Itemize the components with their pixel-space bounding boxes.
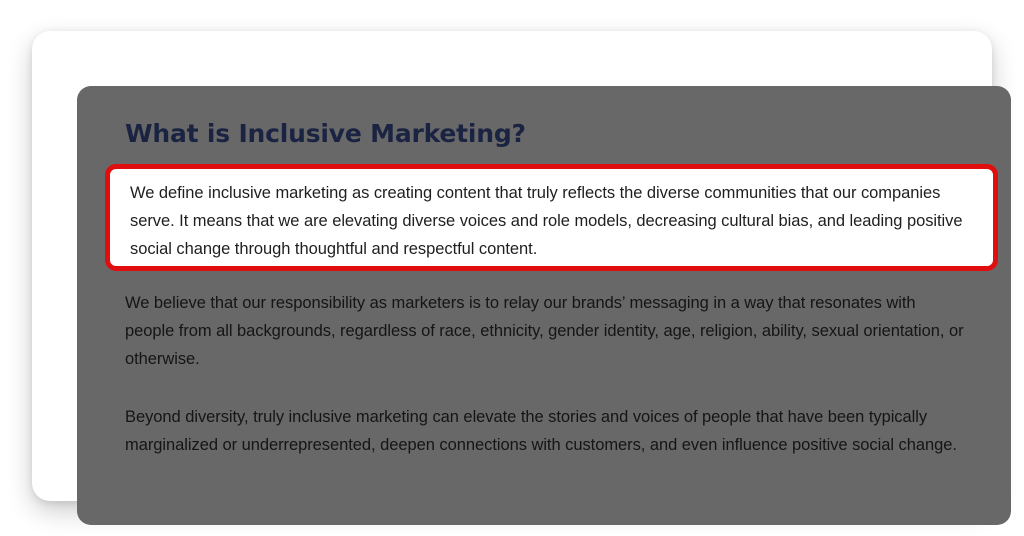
page: What is Inclusive Marketing? We define i… [0,0,1024,536]
content-card: What is Inclusive Marketing? We define i… [32,31,992,501]
body-paragraph-responsibility: We believe that our responsibility as ma… [125,289,965,373]
body-paragraph-beyond-diversity: Beyond diversity, truly inclusive market… [125,403,965,459]
content-panel: What is Inclusive Marketing? We define i… [77,86,1011,525]
definition-paragraph: We define inclusive marketing as creatin… [130,179,970,263]
page-title: What is Inclusive Marketing? [125,119,526,149]
highlighted-definition-callout: We define inclusive marketing as creatin… [105,164,998,271]
